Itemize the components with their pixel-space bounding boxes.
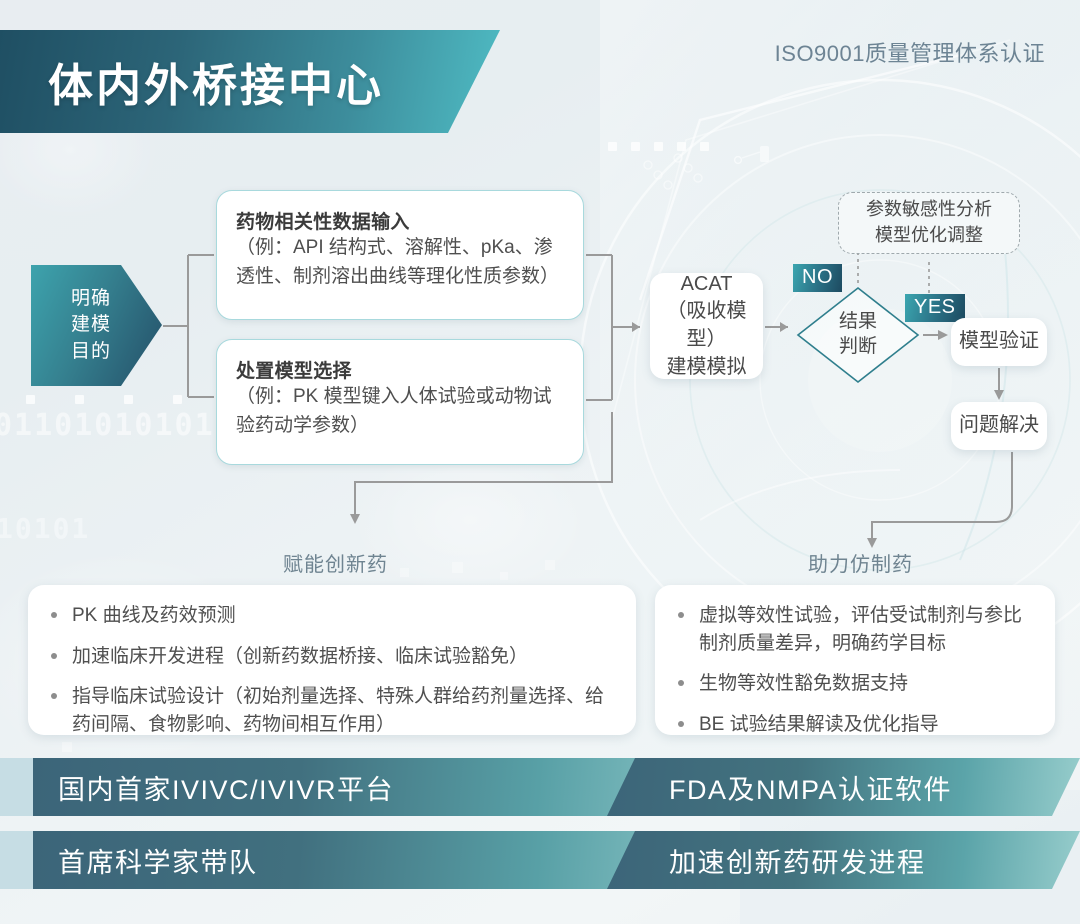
list-item: PK 曲线及药效预测 [46,602,616,630]
card-drug-data-input-body: （例：API 结构式、溶解性、pKa、渗透性、制剂溶出曲线等理化性质参数） [236,234,566,291]
highlight-1-left-label: 国内首家IVIVC/IVIVR平台 [58,768,394,807]
highlight-strip-row-1: 国内首家IVIVC/IVIVR平台 FDA及NMPA认证软件 [0,758,1080,816]
strip-edge-accent [0,758,33,816]
node-acat-simulation[interactable]: ACAT （吸收模型） 建模模拟 [650,273,763,379]
highlight-2-right-label: 加速创新药研发进程 [669,841,926,880]
card-model-selection-body: （例：PK 模型键入人体试验或动物试验药动学参数） [236,383,566,440]
list-item: 指导临床试验设计（初始剂量选择、特殊人群给药剂量选择、给药间隔、食物影响、药物间… [46,683,616,738]
list-item: BE 试验结果解读及优化指导 [673,711,1035,739]
innovative-benefit-list: PK 曲线及药效预测 加速临床开发进程（创新药数据桥接、临床试验豁免） 指导临床… [46,602,616,738]
list-generic-drug-benefits: 虚拟等效性试验，评估受试制剂与参比制剂质量差异，明确药学目标 生物等效性豁免数据… [655,585,1055,735]
list-item: 虚拟等效性试验，评估受试制剂与参比制剂质量差异，明确药学目标 [673,602,1035,657]
highlight-2-left-label: 首席科学家带队 [58,841,258,880]
generic-benefit-list: 虚拟等效性试验，评估受试制剂与参比制剂质量差异，明确药学目标 生物等效性豁免数据… [673,602,1035,738]
label-innovative-drug: 赋能创新药 [283,548,388,577]
label-generic-drug: 助力仿制药 [808,548,913,577]
list-innovative-drug-benefits: PK 曲线及药效预测 加速临床开发进程（创新药数据桥接、临床试验豁免） 指导临床… [28,585,636,735]
node-problem-resolution[interactable]: 问题解决 [951,402,1047,450]
flow-start-node-label: 明确 建模 目的 [51,286,111,365]
card-drug-data-input[interactable]: 药物相关性数据输入 （例：API 结构式、溶解性、pKa、渗透性、制剂溶出曲线等… [216,190,584,320]
node-model-verification[interactable]: 模型验证 [951,318,1047,366]
highlight-2-right[interactable]: 加速创新药研发进程 [607,831,1080,889]
highlight-1-right[interactable]: FDA及NMPA认证软件 [607,758,1080,816]
box-sensitivity-analysis[interactable]: 参数敏感性分析 模型优化调整 [838,192,1020,254]
list-item: 加速临床开发进程（创新药数据桥接、临床试验豁免） [46,643,616,671]
highlight-1-right-label: FDA及NMPA认证软件 [669,768,952,807]
node-result-decision-label: 结果 判断 [795,285,921,385]
highlight-strip-row-2: 首席科学家带队 加速创新药研发进程 [0,831,1080,889]
badge-yes: YES [905,294,965,322]
node-result-decision[interactable]: 结果 判断 [795,285,921,385]
node-acat-simulation-label: ACAT （吸收模型） 建模模拟 [650,271,763,381]
strip-edge-accent-2 [0,831,33,889]
badge-no: NO [793,264,842,292]
list-item: 生物等效性豁免数据支持 [673,670,1035,698]
card-model-selection[interactable]: 处置模型选择 （例：PK 模型键入人体试验或动物试验药动学参数） [216,339,584,465]
card-model-selection-title: 处置模型选择 [236,356,566,383]
box-sensitivity-analysis-label: 参数敏感性分析 模型优化调整 [866,197,992,248]
card-drug-data-input-title: 药物相关性数据输入 [236,207,566,234]
